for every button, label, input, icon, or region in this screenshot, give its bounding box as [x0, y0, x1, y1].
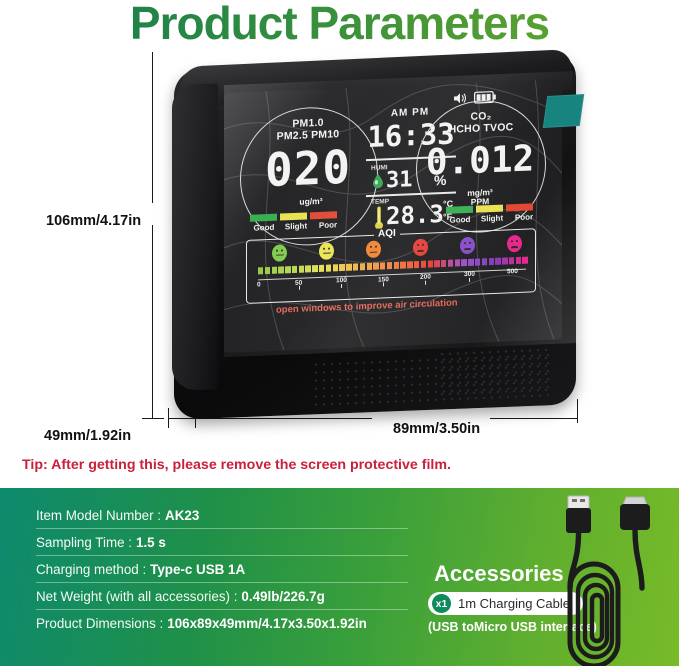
device-screen: PM1.0 PM2.5 PM10 020 ug/m³ Good Slight P… — [224, 79, 562, 353]
aqi-cell — [339, 264, 344, 271]
aqi-cell — [333, 264, 338, 271]
aqi-cell — [292, 266, 297, 273]
aqi-cell — [305, 265, 310, 272]
gas-quality-good: Good — [446, 215, 474, 225]
depth-dim-line — [168, 418, 196, 419]
device-illustration: PM1.0 PM2.5 PM10 020 ug/m³ Good Slight P… — [166, 56, 586, 418]
aqi-cell — [455, 259, 460, 266]
humidity-value: 31 — [386, 167, 413, 193]
spec-key: Item Model Number : — [36, 508, 161, 523]
aqi-cell — [482, 258, 487, 265]
aqi-cell — [475, 258, 480, 265]
aqi-cell — [441, 260, 446, 267]
aqi-title: AQI — [374, 228, 400, 240]
aqi-cell — [400, 261, 405, 268]
spec-value: Type-c USB 1A — [150, 562, 245, 577]
height-dim-gap — [140, 203, 164, 225]
depth-dimension-label: 49mm/1.92in — [44, 428, 131, 444]
aqi-cell — [407, 261, 412, 268]
aqi-cell — [326, 264, 331, 271]
aqi-cell — [522, 257, 527, 264]
height-dimension-label: 106mm/4.17in — [46, 213, 141, 229]
pm-quality-poor: Poor — [314, 220, 342, 230]
spec-list: Item Model Number :AK23Sampling Time :1.… — [36, 502, 408, 636]
aqi-cell — [394, 262, 399, 269]
water-drop-icon — [372, 172, 384, 188]
spec-key: Product Dimensions : — [36, 616, 163, 631]
spec-value: 0.49lb/226.7g — [241, 589, 324, 604]
gas-value: 0.012 — [416, 138, 544, 184]
aqi-cell — [312, 265, 317, 272]
aqi-cell — [373, 263, 378, 270]
aqi-cell — [360, 263, 365, 270]
aqi-cell — [285, 266, 290, 273]
spec-row: Charging method :Type-c USB 1A — [36, 555, 408, 582]
height-dim-line — [152, 62, 153, 418]
pm-quality-slight: Slight — [282, 221, 310, 231]
aqi-cell — [468, 259, 473, 266]
spec-value: 106x89x49mm/4.17x3.50x1.92in — [167, 616, 367, 631]
aqi-cell — [265, 267, 270, 274]
speaker-grille-right — [438, 346, 548, 396]
aqi-cell — [258, 267, 263, 274]
aqi-cell — [272, 267, 277, 274]
aqi-cell — [414, 261, 419, 268]
gas-quality-slight: Slight — [478, 213, 506, 223]
aqi-cell — [387, 262, 392, 269]
product-infographic: Product Parameters 106mm/4.17in 49mm/1.9… — [0, 0, 679, 666]
accessory-qty-badge: x1 — [432, 594, 451, 613]
aqi-cell — [516, 257, 521, 264]
aqi-cell — [353, 263, 358, 270]
aqi-cell — [278, 266, 283, 273]
aqi-cell — [319, 265, 324, 272]
pm-value: 020 — [242, 139, 374, 198]
charging-cable-illustration — [556, 492, 676, 666]
aqi-cell — [448, 260, 453, 267]
film-pull-tab — [543, 94, 584, 128]
pm-quality-good: Good — [250, 223, 278, 233]
aqi-tick-500: 500 — [507, 268, 518, 275]
spec-row: Product Dimensions :106x89x49mm/4.17x3.5… — [36, 609, 408, 636]
height-dim-cap-top — [152, 52, 153, 62]
spec-row: Net Weight (with all accessories) :0.49l… — [36, 582, 408, 609]
aqi-tick-0: 0 — [257, 281, 261, 288]
aqi-cell — [367, 263, 372, 270]
spec-key: Net Weight (with all accessories) : — [36, 589, 237, 604]
spec-key: Sampling Time : — [36, 535, 132, 550]
page-title: Product Parameters — [0, 0, 679, 50]
aqi-cell — [495, 258, 500, 265]
aqi-cell — [428, 260, 433, 267]
spec-key: Charging method : — [36, 562, 146, 577]
aqi-cell — [346, 264, 351, 271]
aqi-cell — [421, 261, 426, 268]
accessory-item-label: 1m Charging Cable — [458, 596, 570, 611]
aqi-cell — [489, 258, 494, 265]
device-left-edge — [172, 84, 218, 391]
spec-row: Sampling Time :1.5 s — [36, 528, 408, 555]
aqi-cell — [380, 262, 385, 269]
height-dim-cap-bottom — [142, 418, 164, 419]
spec-row: Item Model Number :AK23 — [36, 502, 408, 528]
accessories-title: Accessories — [434, 561, 564, 587]
aqi-cell — [502, 257, 507, 264]
aqi-cell — [509, 257, 514, 264]
width-dimension-label: 89mm/3.50in — [393, 421, 480, 437]
spec-value: 1.5 s — [136, 535, 166, 550]
gas-quality-poor: Poor — [510, 212, 538, 222]
tip-text: Tip: After getting this, please remove t… — [22, 457, 451, 473]
aqi-cell — [299, 266, 304, 273]
spec-value: AK23 — [165, 508, 199, 523]
aqi-cell — [434, 260, 439, 267]
aqi-cell — [461, 259, 466, 266]
